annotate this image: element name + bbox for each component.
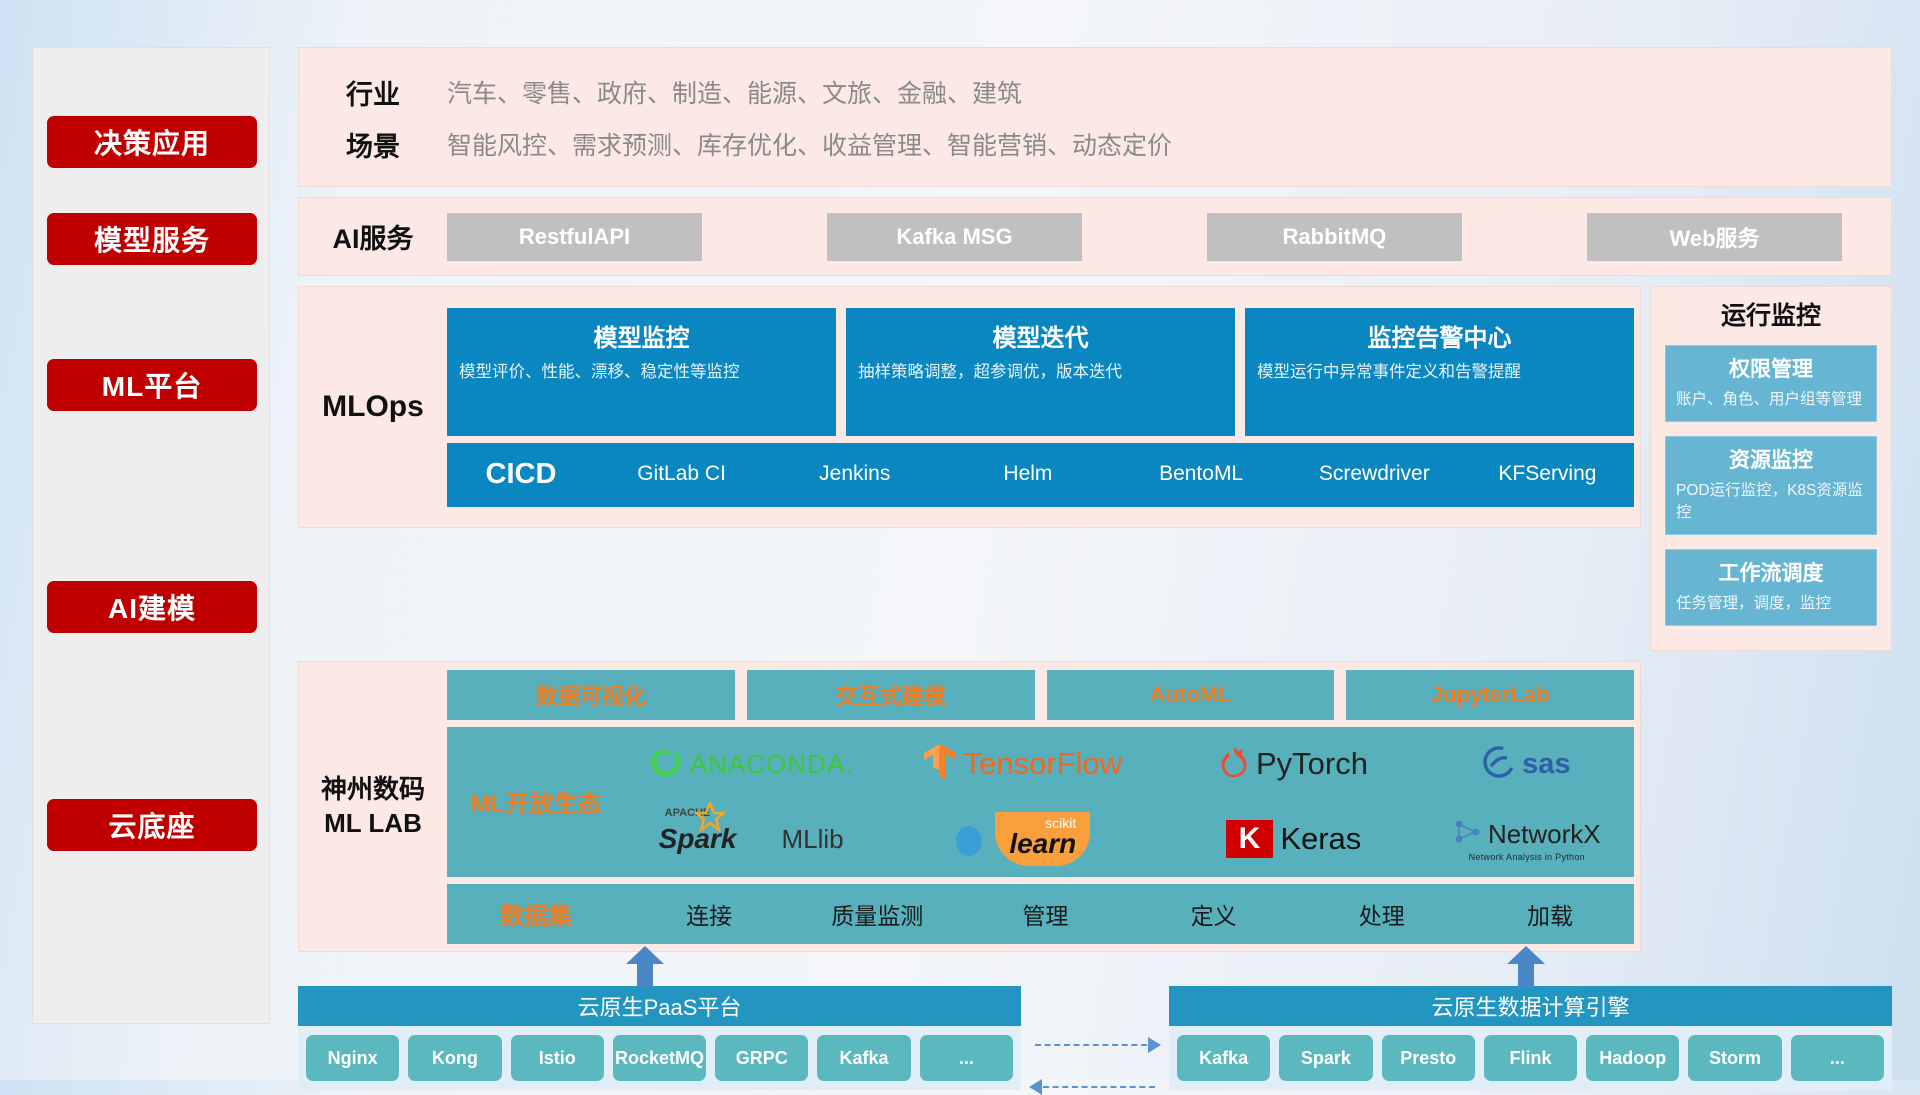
runtime-monitor-panel: 运行监控 权限管理 账户、角色、用户组等管理 资源监控 POD运行监控，K8S资… <box>1650 286 1892 651</box>
ml-lab-label: 神州数码 ML LAB <box>299 773 447 841</box>
keras-wordmark: Keras <box>1280 821 1361 857</box>
dataset-item-connect[interactable]: 连接 <box>625 897 793 931</box>
dataset-item-define[interactable]: 定义 <box>1130 897 1298 931</box>
card-title: 资源监控 <box>1676 444 1866 474</box>
paas-block: 云原生PaaS平台 Nginx Kong Istio RocketMQ GRPC… <box>298 986 1021 1090</box>
card-title: 监控告警中心 <box>1257 318 1622 353</box>
card-desc: POD运行监控，K8S资源监控 <box>1676 480 1866 524</box>
paas-up-arrow-icon <box>626 946 664 988</box>
paas-chip-grpc[interactable]: GRPC <box>715 1035 808 1081</box>
mlops-cards: 模型监控 模型评价、性能、漂移、稳定性等监控 模型迭代 抽样策略调整，超参调优，… <box>447 308 1634 436</box>
scenario-label: 场景 <box>299 125 447 164</box>
paas-chips: Nginx Kong Istio RocketMQ GRPC Kafka ... <box>298 1026 1021 1090</box>
monitor-card-permission[interactable]: 权限管理 账户、角色、用户组等管理 <box>1665 345 1877 422</box>
card-desc: 任务管理，调度，监控 <box>1676 593 1866 615</box>
monitor-card-resource[interactable]: 资源监控 POD运行监控，K8S资源监控 <box>1665 436 1877 535</box>
rail-chip-decision-app[interactable]: 决策应用 <box>47 116 257 168</box>
ai-service-chip-restfulapi[interactable]: RestfulAPI <box>447 213 702 261</box>
ml-lab-band: 神州数码 ML LAB 数据可视化 交互式建模 AutoML JupyterLa… <box>298 661 1641 952</box>
cicd-item-gitlab-ci[interactable]: GitLab CI <box>595 463 768 485</box>
scikit-learn-wordmark: scikit learn <box>995 812 1090 866</box>
card-title: 模型迭代 <box>858 318 1223 353</box>
rail-chip-label: 云底座 <box>108 805 195 845</box>
dataset-label: 数据集 <box>447 896 625 931</box>
cicd-item-kfserving[interactable]: KFServing <box>1461 463 1634 485</box>
ai-modeling-row: 神州数码 ML LAB 数据可视化 交互式建模 AutoML JupyterLa… <box>298 661 1892 952</box>
monitor-card-workflow[interactable]: 工作流调度 任务管理，调度，监控 <box>1665 549 1877 626</box>
decision-application-band: 行业 汽车、零售、政府、制造、能源、文旅、金融、建筑 场景 智能风控、需求预测、… <box>298 47 1892 187</box>
paas-chip-rocketmq[interactable]: RocketMQ <box>613 1035 706 1081</box>
card-desc: 模型运行中异常事件定义和告警提醒 <box>1257 361 1622 385</box>
spark-icon: APACHE Spark <box>659 823 737 855</box>
engine-chip-hadoop[interactable]: Hadoop <box>1586 1035 1679 1081</box>
ai-service-chip-rabbitmq[interactable]: RabbitMQ <box>1207 213 1462 261</box>
ai-service-label: AI服务 <box>299 217 447 256</box>
engine-chips: Kafka Spark Presto Flink Hadoop Storm ..… <box>1169 1026 1892 1090</box>
anaconda-wordmark: ANACONDA. <box>690 749 854 780</box>
industry-value: 汽车、零售、政府、制造、能源、文旅、金融、建筑 <box>447 74 1022 110</box>
scikit-bottom: learn <box>1009 830 1076 858</box>
layer-rail: 决策应用 模型服务 ML平台 AI建模 云底座 <box>32 47 270 1024</box>
ai-service-chip-kafka-msg[interactable]: Kafka MSG <box>827 213 1082 261</box>
dataset-item-quality[interactable]: 质量监测 <box>793 897 961 931</box>
ml-lab-tabs: 数据可视化 交互式建模 AutoML JupyterLab <box>447 670 1634 720</box>
connector-line-right <box>1035 1044 1147 1046</box>
scenario-row: 场景 智能风控、需求预测、库存优化、收益管理、智能营销、动态定价 <box>299 118 1891 170</box>
engine-up-arrow-icon <box>1507 946 1545 988</box>
cicd-item-screwdriver[interactable]: Screwdriver <box>1288 463 1461 485</box>
logo-line-1: ANACONDA. TensorFlow <box>625 727 1634 802</box>
rail-chip-label: 模型服务 <box>94 219 210 259</box>
ml-lab-content: 数据可视化 交互式建模 AutoML JupyterLab ML开放生态 <box>447 670 1640 944</box>
mlops-card-model-iteration[interactable]: 模型迭代 抽样策略调整，超参调优，版本迭代 <box>846 308 1235 436</box>
tensorflow-icon <box>923 743 957 786</box>
networkx-tagline: Network Analysis in Python <box>1469 852 1585 862</box>
networkx-wordmark: NetworkX <box>1488 819 1601 850</box>
architecture-diagram: 行业 汽车、零售、政府、制造、能源、文旅、金融、建筑 场景 智能风控、需求预测、… <box>298 47 1892 1090</box>
engine-title: 云原生数据计算引擎 <box>1169 986 1892 1026</box>
engine-chip-storm[interactable]: Storm <box>1688 1035 1781 1081</box>
rail-chip-label: AI建模 <box>108 587 196 627</box>
rail-chip-model-service[interactable]: 模型服务 <box>47 213 257 265</box>
card-desc: 抽样策略调整，超参调优，版本迭代 <box>858 361 1223 385</box>
engine-chip-presto[interactable]: Presto <box>1382 1035 1475 1081</box>
spark-mllib-logo: APACHE Spark MLlib <box>625 823 877 855</box>
dataset-item-process[interactable]: 处理 <box>1298 897 1466 931</box>
paas-chip-nginx[interactable]: Nginx <box>306 1035 399 1081</box>
cicd-item-jenkins[interactable]: Jenkins <box>768 463 941 485</box>
rail-chip-ai-modeling[interactable]: AI建模 <box>47 581 257 633</box>
cicd-item-helm[interactable]: Helm <box>941 463 1114 485</box>
card-title: 工作流调度 <box>1676 557 1866 587</box>
keras-logo: K Keras <box>1167 820 1419 859</box>
mlops-content: 模型监控 模型评价、性能、漂移、稳定性等监控 模型迭代 抽样策略调整，超参调优，… <box>447 308 1640 507</box>
connector-line-left <box>1043 1086 1155 1088</box>
dataset-row: 数据集 连接 质量监测 管理 定义 处理 加载 <box>447 884 1634 944</box>
mlops-card-model-monitoring[interactable]: 模型监控 模型评价、性能、漂移、稳定性等监控 <box>447 308 836 436</box>
mlops-card-alert-center[interactable]: 监控告警中心 模型运行中异常事件定义和告警提醒 <box>1245 308 1634 436</box>
tab-automl[interactable]: AutoML <box>1047 670 1335 720</box>
engine-block: 云原生数据计算引擎 Kafka Spark Presto Flink Hadoo… <box>1169 986 1892 1090</box>
ml-lab-label-line2: ML LAB <box>299 807 447 841</box>
cicd-items: GitLab CI Jenkins Helm BentoML Screwdriv… <box>595 463 1634 485</box>
scikit-learn-logo: scikit learn <box>877 812 1167 866</box>
rail-chip-ml-platform[interactable]: ML平台 <box>47 359 257 411</box>
paas-title: 云原生PaaS平台 <box>298 986 1021 1026</box>
logo-line-2: APACHE Spark MLlib <box>625 802 1634 877</box>
ai-service-band: AI服务 RestfulAPI Kafka MSG RabbitMQ Web服务 <box>298 197 1892 276</box>
cicd-item-bentoml[interactable]: BentoML <box>1115 463 1288 485</box>
scikit-icon <box>954 814 1000 865</box>
rail-chip-label: 决策应用 <box>94 122 210 162</box>
rail-chip-cloud-base[interactable]: 云底座 <box>47 799 257 851</box>
engine-chip-more[interactable]: ... <box>1791 1035 1884 1081</box>
card-title: 模型监控 <box>459 318 824 353</box>
keras-icon: K <box>1226 820 1274 859</box>
engine-chip-kafka[interactable]: Kafka <box>1177 1035 1270 1081</box>
pytorch-icon <box>1219 745 1249 784</box>
scenario-value: 智能风控、需求预测、库存优化、收益管理、智能营销、动态定价 <box>447 126 1172 162</box>
connector-arrow-left-icon <box>1029 1079 1042 1095</box>
card-desc: 账户、角色、用户组等管理 <box>1676 389 1866 411</box>
cicd-title: CICD <box>447 458 595 491</box>
cicd-bar: CICD GitLab CI Jenkins Helm BentoML Scre… <box>447 443 1634 507</box>
mlops-label: MLOps <box>299 390 447 424</box>
ai-service-items: RestfulAPI Kafka MSG RabbitMQ Web服务 <box>447 213 1842 261</box>
mlops-band: MLOps 模型监控 模型评价、性能、漂移、稳定性等监控 模型迭代 抽样策略调整… <box>298 286 1641 528</box>
connector-arrow-right-icon <box>1148 1037 1161 1053</box>
paas-chip-istio[interactable]: Istio <box>511 1035 604 1081</box>
lab-row-spacer <box>1650 661 1892 952</box>
paas-chip-kafka[interactable]: Kafka <box>817 1035 910 1081</box>
industry-row: 行业 汽车、零售、政府、制造、能源、文旅、金融、建筑 <box>299 66 1891 118</box>
dataset-items: 连接 质量监测 管理 定义 处理 加载 <box>625 897 1634 931</box>
tensorflow-logo: TensorFlow <box>877 743 1167 786</box>
card-title: 权限管理 <box>1676 353 1866 383</box>
anaconda-logo: ANACONDA. <box>625 745 877 784</box>
tab-interactive-modeling[interactable]: 交互式建模 <box>747 670 1035 720</box>
rail-chip-label: ML平台 <box>102 365 202 405</box>
engine-chip-flink[interactable]: Flink <box>1484 1035 1577 1081</box>
dataset-item-manage[interactable]: 管理 <box>961 897 1129 931</box>
dataset-item-load[interactable]: 加载 <box>1466 897 1634 931</box>
ml-ecosystem-label: ML开放生态 <box>447 784 625 819</box>
paas-chip-kong[interactable]: Kong <box>408 1035 501 1081</box>
tab-data-visualization[interactable]: 数据可视化 <box>447 670 735 720</box>
runtime-monitor-title: 运行监控 <box>1665 296 1877 332</box>
cloud-connector <box>1021 986 1169 1090</box>
sas-icon <box>1483 746 1515 783</box>
ml-platform-row: MLOps 模型监控 模型评价、性能、漂移、稳定性等监控 模型迭代 抽样策略调整… <box>298 286 1892 651</box>
ml-ecosystem-logos: ANACONDA. TensorFlow <box>625 727 1634 877</box>
cloud-base-row: 云原生PaaS平台 Nginx Kong Istio RocketMQ GRPC… <box>298 986 1892 1090</box>
networkx-logo: NetworkX Network Analysis in Python <box>1420 817 1634 862</box>
tab-jupyterlab[interactable]: JupyterLab <box>1346 670 1634 720</box>
anaconda-icon <box>649 745 683 784</box>
pytorch-logo: PyTorch <box>1167 745 1419 784</box>
ml-lab-label-line1: 神州数码 <box>299 773 447 807</box>
tensorflow-wordmark: TensorFlow <box>964 746 1123 782</box>
mllib-wordmark: MLlib <box>781 824 843 855</box>
card-desc: 模型评价、性能、漂移、稳定性等监控 <box>459 361 824 385</box>
industry-label: 行业 <box>299 73 447 112</box>
sas-logo: sas <box>1420 746 1634 783</box>
networkx-icon <box>1453 817 1483 852</box>
engine-chip-spark[interactable]: Spark <box>1279 1035 1372 1081</box>
ai-service-chip-web-service[interactable]: Web服务 <box>1587 213 1842 261</box>
ml-ecosystem-row: ML开放生态 ANACONDA. <box>447 727 1634 877</box>
pytorch-wordmark: PyTorch <box>1256 746 1368 782</box>
sas-wordmark: sas <box>1522 748 1570 781</box>
paas-chip-more[interactable]: ... <box>920 1035 1013 1081</box>
